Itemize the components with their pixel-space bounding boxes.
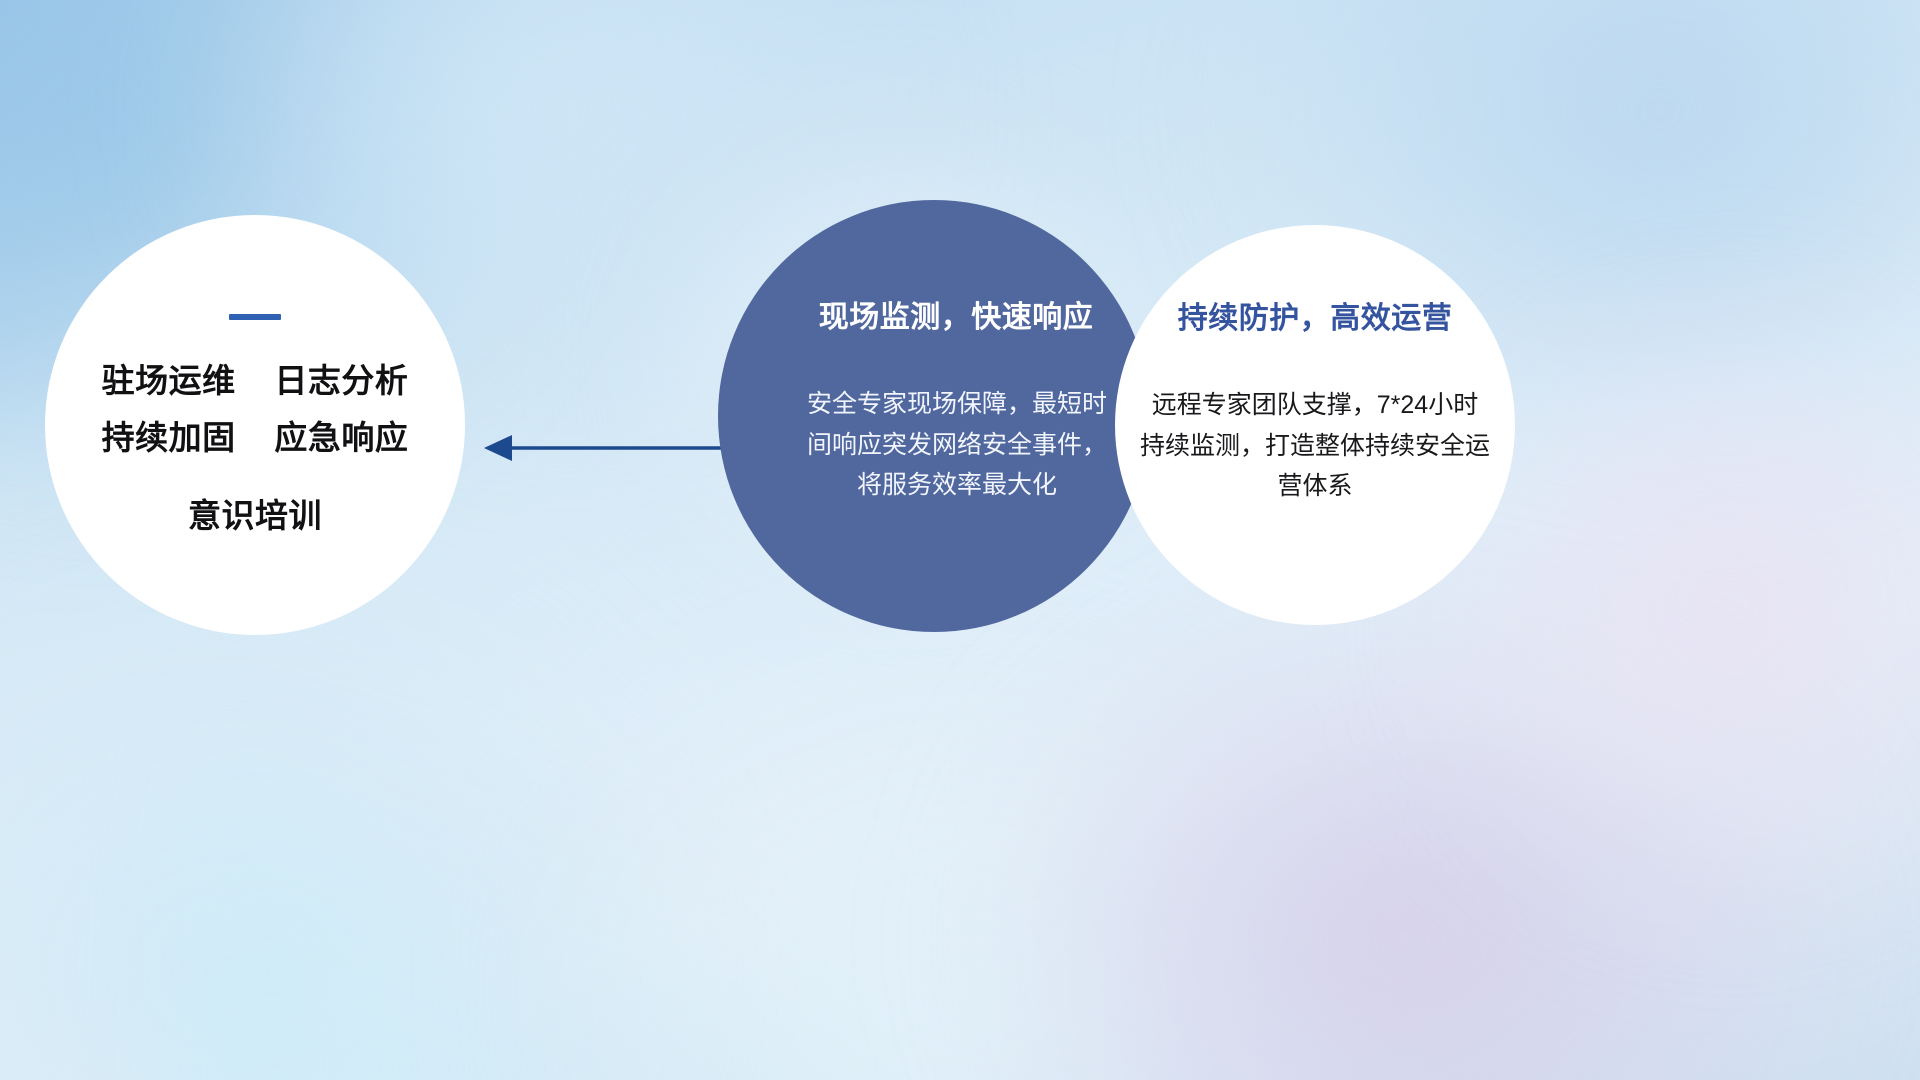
capability-line-1: 驻场运维 日志分析	[102, 360, 409, 401]
capability-list: 驻场运维 日志分析 持续加固 应急响应 意识培训	[102, 360, 409, 536]
capability-line-2: 持续加固 应急响应	[102, 417, 409, 458]
middle-card-title: 现场监测，快速响应	[819, 292, 1094, 336]
capability-line-3: 意识培训	[188, 495, 322, 536]
capability-card-right[interactable]: 持续防护，高效运营 远程专家团队支撑，7*24小时持续监测，打造整体持续安全运营…	[1115, 225, 1515, 625]
capability-card-middle[interactable]: 现场监测，快速响应 安全专家现场保障，最短时间响应突发网络安全事件，将服务效率最…	[718, 200, 1150, 632]
diagram-stage: 驻场运维 日志分析 持续加固 应急响应 意识培训 现场监测，快速响应 安全专家现…	[0, 0, 1920, 1080]
right-card-title: 持续防护，高效运营	[1178, 293, 1453, 337]
connector-arrow-left-icon	[480, 418, 740, 478]
divider-dash	[229, 314, 281, 320]
right-card-body: 远程专家团队支撑，7*24小时持续监测，打造整体持续安全运营体系	[1140, 385, 1490, 507]
capability-card-left[interactable]: 驻场运维 日志分析 持续加固 应急响应 意识培训	[45, 215, 465, 635]
middle-card-body: 安全专家现场保障，最短时间响应突发网络安全事件，将服务效率最大化	[807, 384, 1107, 506]
